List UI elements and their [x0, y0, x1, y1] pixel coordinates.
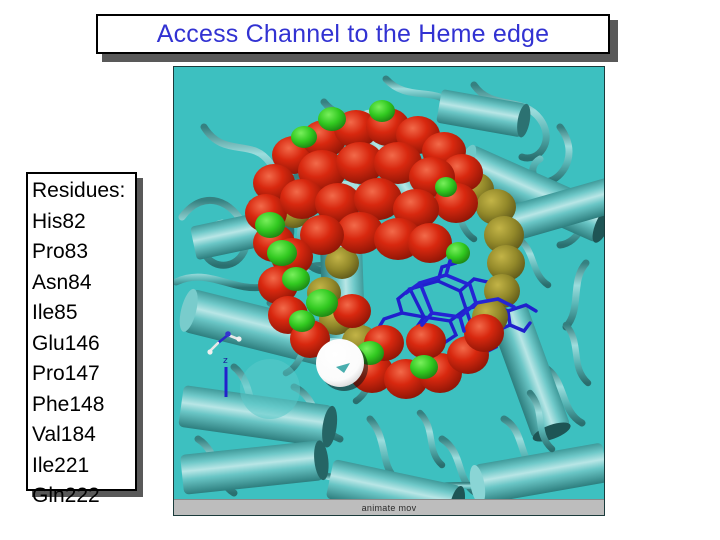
- residue-item: Ile221: [32, 451, 135, 482]
- residue-item: Pro83: [32, 237, 135, 268]
- status-text: animate mov: [362, 503, 417, 513]
- residues-panel: Residues: His82 Pro83 Asn84 Ile85 Glu146…: [26, 172, 137, 491]
- residue-item: Ile85: [32, 298, 135, 329]
- page-title: Access Channel to the Heme edge: [157, 20, 550, 49]
- residue-item: Asn84: [32, 268, 135, 299]
- residue-item: Gln222: [32, 481, 135, 512]
- molecular-viewer-canvas[interactable]: z: [174, 67, 604, 501]
- white-sphere: [316, 339, 364, 387]
- residue-item: Phe148: [32, 390, 135, 421]
- translucent-sphere: [240, 359, 300, 419]
- viewer-status-bar: animate mov: [174, 499, 604, 515]
- residue-item: His82: [32, 207, 135, 238]
- residues-heading: Residues:: [32, 176, 135, 207]
- molecular-viewer-panel[interactable]: z animate mov: [173, 66, 605, 516]
- axis-label-z: z: [223, 356, 228, 366]
- residue-item: Val184: [32, 420, 135, 451]
- residue-item: Glu146: [32, 329, 135, 360]
- residue-item: Pro147: [32, 359, 135, 390]
- protein-structure-render: z: [174, 67, 604, 501]
- title-banner: Access Channel to the Heme edge: [96, 14, 610, 54]
